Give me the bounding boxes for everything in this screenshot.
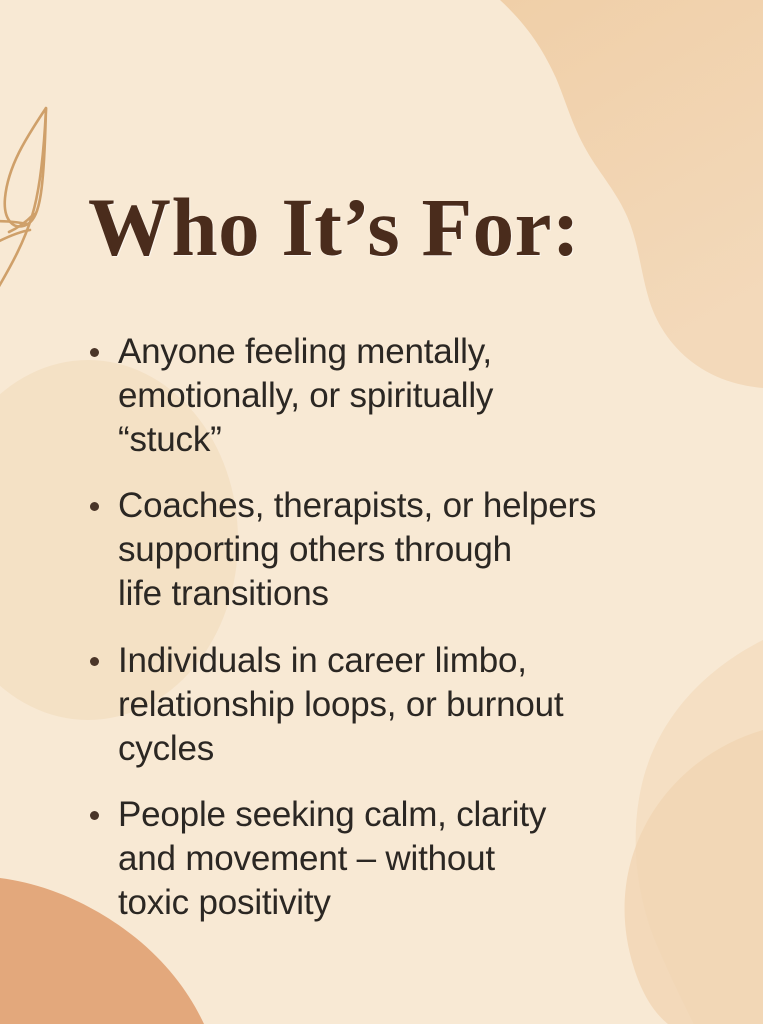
- bullet-dot-icon: [90, 348, 99, 357]
- list-item-text: Coaches, therapists, or helpers supporti…: [118, 484, 706, 616]
- list-item: Coaches, therapists, or helpers supporti…: [86, 484, 706, 616]
- page-title: Who It’s For:: [88, 186, 580, 269]
- audience-bullet-list: Anyone feeling mentally, emotionally, or…: [86, 330, 706, 925]
- bullet-dot-icon: [90, 811, 99, 820]
- list-item: Anyone feeling mentally, emotionally, or…: [86, 330, 706, 462]
- bullet-dot-icon: [90, 502, 99, 511]
- bullet-dot-icon: [90, 657, 99, 666]
- list-item-text: Individuals in career limbo, relationshi…: [118, 639, 706, 771]
- list-item: People seeking calm, clarity and movemen…: [86, 793, 706, 925]
- list-item-text: Anyone feeling mentally, emotionally, or…: [118, 330, 706, 462]
- poster-content: Who It’s For: Anyone feeling mentally, e…: [0, 0, 763, 1024]
- list-item-text: People seeking calm, clarity and movemen…: [118, 793, 706, 925]
- poster-canvas: Who It’s For: Anyone feeling mentally, e…: [0, 0, 763, 1024]
- list-item: Individuals in career limbo, relationshi…: [86, 639, 706, 771]
